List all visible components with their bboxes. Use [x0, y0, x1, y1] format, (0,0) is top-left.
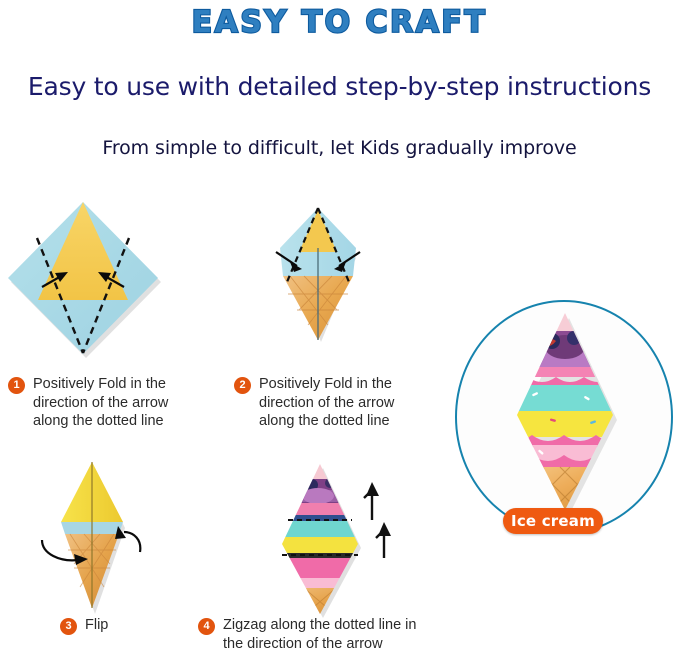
step-3-badge: 3 [60, 618, 77, 635]
step-1-badge: 1 [8, 377, 25, 394]
zigzag-arrow-upper-head [366, 482, 379, 496]
page-title-wrap: EASY TO CRAFT [0, 6, 679, 39]
step-1-figure [0, 190, 200, 360]
step-2-badge: 2 [234, 377, 251, 394]
step-3: 3 Flip [22, 452, 212, 622]
step-2-figure [232, 190, 432, 360]
step-4: 4 Zigzag along the dotted line in the di… [232, 452, 432, 622]
finished-ice-cream-cone [480, 305, 650, 520]
step-2-text: Positively Fold in the direction of the … [259, 375, 394, 431]
flip-arrow-right [124, 532, 140, 552]
result-badge: Ice cream [503, 508, 603, 534]
step-2: 2 Positively Fold in the direction of th… [232, 190, 432, 360]
step-1: 1 Positively Fold in the direction of th… [0, 190, 200, 360]
flip-diagram [22, 452, 212, 622]
step-2-caption: 2 Positively Fold in the direction of th… [234, 375, 444, 431]
step-4-caption: 4 Zigzag along the dotted line in the di… [198, 616, 458, 653]
page-subtitle: Easy to use with detailed step-by-step i… [0, 72, 679, 101]
step-4-text: Zigzag along the dotted line in the dire… [223, 616, 416, 653]
ice-cream-result-layers [500, 305, 630, 527]
zigzag-diagram [232, 452, 432, 622]
step-3-text: Flip [85, 616, 108, 635]
step-3-figure [22, 452, 212, 622]
step-3-caption: 3 Flip [60, 616, 220, 635]
step-1-caption: 1 Positively Fold in the direction of th… [8, 375, 208, 431]
step-4-figure [232, 452, 432, 622]
step-4-badge: 4 [198, 618, 215, 635]
page-tagline: From simple to difficult, let Kids gradu… [0, 137, 679, 159]
diamond-fold-diagram [0, 190, 200, 360]
page-title: EASY TO CRAFT [192, 6, 488, 39]
result-figure [480, 305, 650, 520]
step-1-text: Positively Fold in the direction of the … [33, 375, 168, 431]
kite-fold-diagram [232, 190, 432, 360]
zigzag-arrow-lower-head [378, 522, 391, 536]
